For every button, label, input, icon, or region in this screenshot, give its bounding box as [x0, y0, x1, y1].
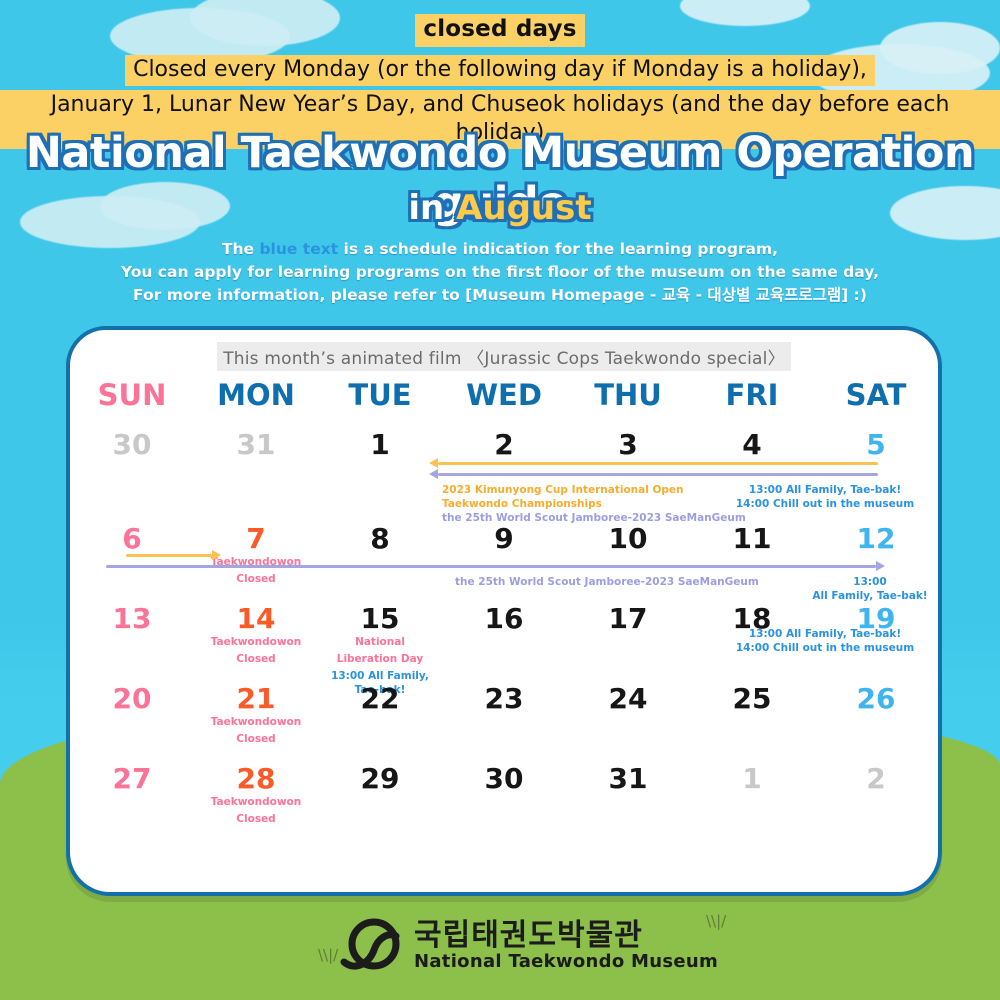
day-number: 13 — [70, 600, 194, 633]
calendar-day-cell[interactable]: 29 — [318, 760, 442, 840]
museum-emblem-icon — [340, 918, 402, 974]
day-event-label: Taekwondowon — [194, 716, 318, 730]
day-event-label: Taekwondowon — [194, 796, 318, 810]
grass-blade-icon: \\|/ — [706, 912, 726, 930]
animated-film-banner: This month’s animated film 〈Jurassic Cop… — [70, 342, 938, 371]
calendar-day-cell[interactable]: 20 — [70, 680, 194, 760]
event-label-scout-jamboree-w2: the 25th World Scout Jamboree-2023 SaeMa… — [455, 575, 759, 589]
calendar-grid: 303112345 2023 Kimunyong Cup Internation… — [70, 426, 938, 840]
event-bar-orange-w2 — [126, 554, 212, 557]
event-bar-purple-w2-arrowhead — [876, 561, 885, 571]
day-number: 30 — [442, 760, 566, 793]
calendar-week-row: 303112345 2023 Kimunyong Cup Internation… — [70, 426, 938, 520]
program-note-line-2: You can apply for learning programs on t… — [0, 261, 1000, 284]
day-number: 27 — [70, 760, 194, 793]
event-bar-orange-w1-arrowhead — [429, 458, 438, 468]
day-number: 1 — [690, 760, 814, 793]
program-w3-line-2: 14:00 Chill out in the museum — [710, 641, 940, 655]
day-number: 21 — [194, 680, 318, 713]
weekday-header-fri: FRI — [690, 378, 814, 412]
calendar-day-cell[interactable]: 2 — [814, 760, 938, 840]
calendar-day-cell[interactable]: 30 — [442, 760, 566, 840]
museum-logo: 국립태권도박물관 National Taekwondo Museum — [340, 918, 718, 974]
museum-logo-text: 국립태권도박물관 National Taekwondo Museum — [414, 920, 718, 973]
day-number: 22 — [318, 680, 442, 713]
day-event-label: Closed — [194, 813, 318, 827]
program-w3-line-1: 13:00 All Family, Tae-bak! — [710, 627, 940, 641]
animated-film-label: This month’s animated film 〈Jurassic Cop… — [217, 342, 791, 371]
calendar-week-row: 67TaekwondowonClosed89101112 the 25th Wo… — [70, 520, 938, 600]
program-notes: The blue text is a schedule indication f… — [0, 238, 1000, 307]
calendar-day-cell[interactable]: 7TaekwondowonClosed — [194, 520, 318, 600]
grass-blade-icon: \\|/ — [318, 946, 338, 964]
closed-days-title: closed days — [0, 14, 1000, 47]
program-w1-line-2: 14:00 Chill out in the museum — [710, 497, 940, 511]
day-number: 20 — [70, 680, 194, 713]
day-number: 2 — [442, 426, 566, 459]
kimunyong-line-1: 2023 Kimunyong Cup International Open — [442, 483, 684, 497]
day-event-label: Closed — [194, 573, 318, 587]
calendar-day-cell[interactable]: 27 — [70, 760, 194, 840]
calendar-day-cell[interactable]: 15NationalLiberation Day13:00 All Family… — [318, 600, 442, 680]
day-event-label: Closed — [194, 733, 318, 747]
calendar-day-cell[interactable]: 28TaekwondowonClosed — [194, 760, 318, 840]
calendar-day-cell[interactable]: 30 — [70, 426, 194, 520]
day-number: 29 — [318, 760, 442, 793]
event-bar-purple-w2 — [106, 565, 876, 568]
day-number: 12 — [814, 520, 938, 553]
day-number: 16 — [442, 600, 566, 633]
day-number: 28 — [194, 760, 318, 793]
event-bar-orange-w2-arrowhead — [212, 550, 221, 560]
calendar-day-cell[interactable]: 16 — [442, 600, 566, 680]
day-event-label: Closed — [194, 653, 318, 667]
day-number: 4 — [690, 426, 814, 459]
calendar-day-cell[interactable]: 26 — [814, 680, 938, 760]
day-number: 17 — [566, 600, 690, 633]
note-1-post: is a schedule indication for the learnin… — [338, 240, 778, 258]
weekday-header-thu: THU — [566, 378, 690, 412]
weekday-header-row: SUNMONTUEWEDTHUFRISAT — [70, 378, 938, 412]
weekday-header-mon: MON — [194, 378, 318, 412]
day-number: 11 — [690, 520, 814, 553]
day-number: 2 — [814, 760, 938, 793]
calendar-day-cell[interactable]: 1 — [690, 760, 814, 840]
program-w2-line-1: 13:00 — [805, 575, 935, 589]
calendar-day-cell[interactable]: 24 — [566, 680, 690, 760]
day-number: 5 — [814, 426, 938, 459]
day-number: 6 — [70, 520, 194, 553]
closed-days-banner: closed days Closed every Monday (or the … — [0, 0, 1000, 118]
event-bar-orange-w1 — [438, 462, 878, 465]
program-note-line-1: The blue text is a schedule indication f… — [0, 238, 1000, 261]
day-number: 23 — [442, 680, 566, 713]
day-event-label: National — [318, 636, 442, 650]
day-number: 10 — [566, 520, 690, 553]
calendar-week-row: 2728TaekwondowonClosed29303112 — [70, 760, 938, 840]
day-event-label: Taekwondowon — [194, 636, 318, 650]
note-1-pre: The — [222, 240, 260, 258]
calendar-day-cell[interactable]: 31 — [566, 760, 690, 840]
weekday-header-tue: TUE — [318, 378, 442, 412]
calendar-day-cell[interactable]: 31 — [194, 426, 318, 520]
calendar-day-cell[interactable]: 25 — [690, 680, 814, 760]
page-subtitle: in August — [0, 188, 1000, 228]
week-4-cells: 2021TaekwondowonClosed2223242526 — [70, 680, 938, 760]
closed-days-line-1: Closed every Monday (or the following da… — [0, 55, 1000, 87]
calendar-day-cell[interactable]: 1 — [318, 426, 442, 520]
calendar-week-row: 1314TaekwondowonClosed15NationalLiberati… — [70, 600, 938, 680]
day-event-label: Liberation Day — [318, 653, 442, 667]
calendar-card: This month’s animated film 〈Jurassic Cop… — [66, 326, 942, 896]
calendar-day-cell[interactable]: 17 — [566, 600, 690, 680]
calendar-day-cell[interactable]: 21TaekwondowonClosed — [194, 680, 318, 760]
weekday-header-wed: WED — [442, 378, 566, 412]
closed-days-line-1-text: Closed every Monday (or the following da… — [125, 55, 875, 87]
day-number: 15 — [318, 600, 442, 633]
day-number: 31 — [566, 760, 690, 793]
calendar-week-row: 2021TaekwondowonClosed2223242526 — [70, 680, 938, 760]
day-number: 30 — [70, 426, 194, 459]
event-label-program-w3: 13:00 All Family, Tae-bak! 14:00 Chill o… — [710, 627, 940, 655]
weekday-header-sat: SAT — [814, 378, 938, 412]
note-1-blue-text: blue text — [259, 240, 338, 258]
subtitle-in-word: in — [408, 188, 444, 228]
day-number: 14 — [194, 600, 318, 633]
calendar-day-cell[interactable]: 13 — [70, 600, 194, 680]
event-bar-purple-w1-arrowhead — [429, 469, 438, 479]
event-bar-purple-w1 — [438, 473, 878, 476]
day-number: 3 — [566, 426, 690, 459]
calendar-day-cell[interactable]: 22 — [318, 680, 442, 760]
day-number: 7 — [194, 520, 318, 553]
subtitle-month: August — [456, 188, 592, 228]
day-number: 26 — [814, 680, 938, 713]
kimunyong-line-2: Taekwondo Championships — [442, 497, 684, 511]
day-number: 24 — [566, 680, 690, 713]
program-note-line-3: For more information, please refer to [M… — [0, 284, 1000, 307]
program-w1-line-1: 13:00 All Family, Tae-bak! — [710, 483, 940, 497]
day-number: 25 — [690, 680, 814, 713]
closed-days-title-text: closed days — [415, 14, 584, 47]
event-label-program-w1: 13:00 All Family, Tae-bak! 14:00 Chill o… — [710, 483, 940, 511]
day-number: 8 — [318, 520, 442, 553]
museum-name-korean: 국립태권도박물관 — [414, 920, 718, 952]
day-number: 31 — [194, 426, 318, 459]
day-number: 9 — [442, 520, 566, 553]
event-label-kimunyong-cup: 2023 Kimunyong Cup International Open Ta… — [442, 483, 684, 511]
week-5-cells: 2728TaekwondowonClosed29303112 — [70, 760, 938, 840]
calendar-day-cell[interactable]: 8 — [318, 520, 442, 600]
calendar-day-cell[interactable]: 6 — [70, 520, 194, 600]
weekday-header-sun: SUN — [70, 378, 194, 412]
calendar-day-cell[interactable]: 14TaekwondowonClosed — [194, 600, 318, 680]
museum-name-english: National Taekwondo Museum — [414, 951, 718, 972]
day-number: 1 — [318, 426, 442, 459]
calendar-day-cell[interactable]: 23 — [442, 680, 566, 760]
